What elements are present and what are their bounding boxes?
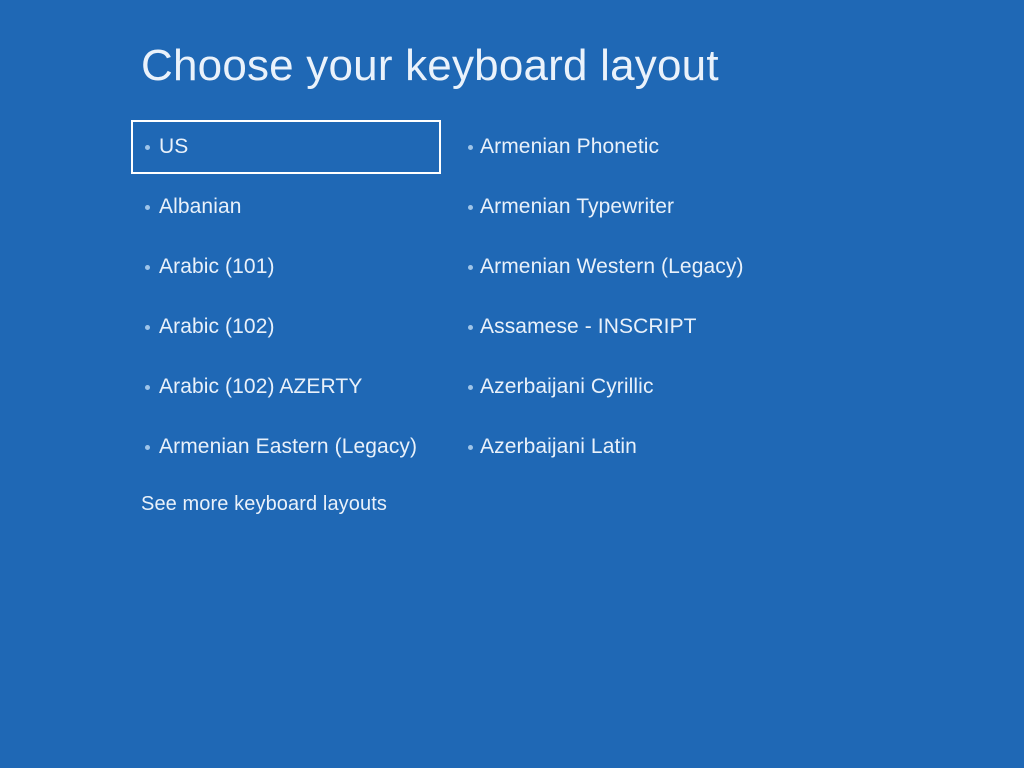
keyboard-layout-option-label: Arabic (102) AZERTY xyxy=(159,374,362,400)
keyboard-layout-option-label: Azerbaijani Cyrillic xyxy=(480,374,654,400)
keyboard-layout-option[interactable]: Arabic (102) xyxy=(131,300,441,354)
keyboard-layout-option-label: US xyxy=(159,134,188,160)
keyboard-layout-option-label: Armenian Western (Legacy) xyxy=(480,254,744,280)
page-title: Choose your keyboard layout xyxy=(141,38,719,94)
keyboard-layout-option[interactable]: Armenian Western (Legacy) xyxy=(452,240,782,294)
keyboard-layout-column-left: USAlbanianArabic (101)Arabic (102)Arabic… xyxy=(131,120,441,480)
keyboard-layout-option[interactable]: Armenian Eastern (Legacy) xyxy=(131,420,441,474)
bullet-icon xyxy=(468,145,473,150)
bullet-icon xyxy=(468,385,473,390)
keyboard-layout-option-label: Armenian Phonetic xyxy=(480,134,659,160)
keyboard-layout-option[interactable]: Assamese - INSCRIPT xyxy=(452,300,782,354)
bullet-icon xyxy=(145,325,150,330)
keyboard-layout-column-right: Armenian PhoneticArmenian TypewriterArme… xyxy=(452,120,782,480)
keyboard-layout-option[interactable]: Azerbaijani Latin xyxy=(452,420,782,474)
bullet-icon xyxy=(145,205,150,210)
keyboard-layout-option-label: Albanian xyxy=(159,194,242,220)
keyboard-layout-option[interactable]: Arabic (102) AZERTY xyxy=(131,360,441,414)
bullet-icon xyxy=(145,265,150,270)
bullet-icon xyxy=(145,145,150,150)
keyboard-layout-option[interactable]: Albanian xyxy=(131,180,441,234)
bullet-icon xyxy=(468,205,473,210)
bullet-icon xyxy=(145,385,150,390)
bullet-icon xyxy=(145,445,150,450)
keyboard-layout-screen: Choose your keyboard layout USAlbanianAr… xyxy=(0,0,1024,768)
see-more-keyboard-layouts-link[interactable]: See more keyboard layouts xyxy=(141,490,387,518)
keyboard-layout-option-label: Arabic (101) xyxy=(159,254,275,280)
keyboard-layout-option[interactable]: Armenian Typewriter xyxy=(452,180,782,234)
keyboard-layout-option-label: Armenian Typewriter xyxy=(480,194,674,220)
keyboard-layout-option[interactable]: Azerbaijani Cyrillic xyxy=(452,360,782,414)
keyboard-layout-option-label: Arabic (102) xyxy=(159,314,275,340)
bullet-icon xyxy=(468,325,473,330)
bullet-icon xyxy=(468,265,473,270)
keyboard-layout-option[interactable]: Armenian Phonetic xyxy=(452,120,782,174)
bullet-icon xyxy=(468,445,473,450)
keyboard-layout-option-selected[interactable]: US xyxy=(131,120,441,174)
keyboard-layout-option-label: Assamese - INSCRIPT xyxy=(480,314,697,340)
keyboard-layout-option[interactable]: Arabic (101) xyxy=(131,240,441,294)
keyboard-layout-option-label: Armenian Eastern (Legacy) xyxy=(159,434,417,460)
keyboard-layout-option-label: Azerbaijani Latin xyxy=(480,434,637,460)
